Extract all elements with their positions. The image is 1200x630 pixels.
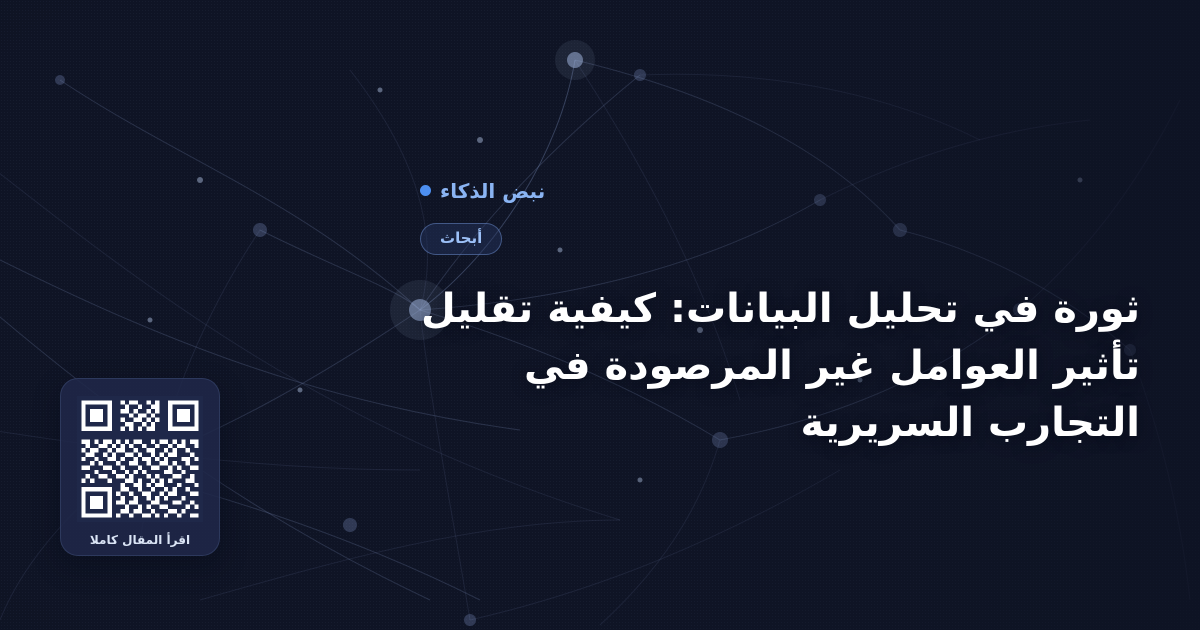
page-title: ثورة في تحليل البيانات: كيفية تقليل تأثي… <box>420 281 1140 452</box>
category-badge[interactable]: أبحاث <box>420 223 502 255</box>
brand-name: نبض الذكاء <box>440 179 545 203</box>
bullet-dot-icon <box>420 185 431 196</box>
brand-lockup[interactable]: نبض الذكاء <box>420 179 545 203</box>
qr-code-card[interactable]: اقرأ المقال كاملا <box>60 378 220 556</box>
social-share-card: اقرأ المقال كاملا نبض الذكاء أبحاث ثورة … <box>0 0 1200 630</box>
qr-code-icon <box>77 396 203 522</box>
content-column: نبض الذكاء أبحاث ثورة في تحليل البيانات:… <box>420 0 1200 630</box>
qr-card-caption: اقرأ المقال كاملا <box>90 533 190 547</box>
